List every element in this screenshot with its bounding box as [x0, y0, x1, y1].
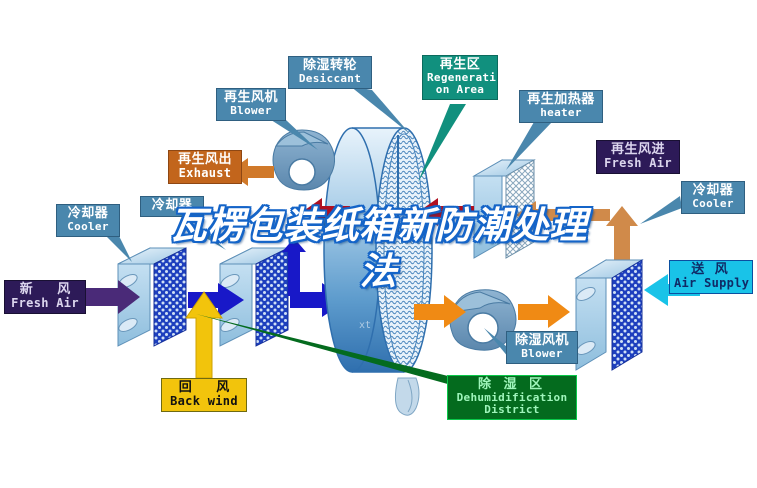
- label-cn: 再生风机: [221, 91, 281, 105]
- label-en: Blower: [221, 105, 281, 117]
- label-regeneration-blower[interactable]: 再生风机 Blower: [216, 88, 286, 121]
- label-cn: 除湿转轮: [293, 59, 367, 73]
- label-en: Desiccant: [293, 73, 367, 85]
- label-cn: 送 风: [674, 263, 748, 277]
- label-regeneration-area[interactable]: 再生区 Regenerati on Area: [422, 55, 498, 100]
- supply-cooler-unit: [575, 260, 642, 370]
- label-en: Cooler: [686, 198, 740, 210]
- label-cooler-right[interactable]: 冷却器 Cooler: [681, 181, 745, 214]
- label-regeneration-fresh-air-in[interactable]: 再生风进 Fresh Air: [596, 140, 680, 174]
- label-en: Fresh Air: [9, 297, 81, 310]
- label-en: Cooler: [61, 221, 115, 233]
- label-en-line2: on Area: [427, 84, 493, 96]
- label-en: Blower: [511, 348, 573, 360]
- label-en: Air Supply: [674, 277, 748, 290]
- label-cooler-left-b[interactable]: 冷却器: [140, 196, 204, 217]
- label-cn: 再生风出: [173, 153, 237, 167]
- label-cn: 除湿风机: [511, 334, 573, 348]
- label-dehumidification-district[interactable]: 除 湿 区 Dehumidification District: [447, 375, 577, 420]
- label-cooler-left-a[interactable]: 冷却器 Cooler: [56, 204, 120, 237]
- label-cn: 再生区: [427, 58, 493, 72]
- label-cn: 除 湿 区: [452, 378, 572, 392]
- label-dehumidification-blower[interactable]: 除湿风机 Blower: [506, 331, 578, 364]
- label-exhaust[interactable]: 再生风出 Exhaust: [168, 150, 242, 184]
- label-regeneration-heater[interactable]: 再生加热器 heater: [519, 90, 603, 123]
- label-en-line2: District: [452, 404, 572, 416]
- label-en: Back wind: [166, 395, 242, 408]
- label-air-supply[interactable]: 送 风 Air Supply: [669, 260, 753, 294]
- label-en: heater: [524, 107, 598, 119]
- label-cn: 再生风进: [601, 143, 675, 157]
- label-cn: 新 风: [9, 283, 81, 297]
- label-fresh-air-inlet[interactable]: 新 风 Fresh Air: [4, 280, 86, 314]
- label-cn: 冷却器: [145, 199, 199, 213]
- label-desiccant-rotor[interactable]: 除湿转轮 Desiccant: [288, 56, 372, 89]
- label-en: Exhaust: [173, 167, 237, 180]
- dehumidifier-schematic: [0, 0, 757, 488]
- label-cn: 再生加热器: [524, 93, 598, 107]
- label-cn: 回 风: [166, 381, 242, 395]
- label-en: Fresh Air: [601, 157, 675, 170]
- diagram-canvas: 除湿转轮 Desiccant 再生风机 Blower 再生区 Regenerat…: [0, 0, 757, 488]
- label-cn: 冷却器: [686, 184, 740, 198]
- label-back-wind[interactable]: 回 风 Back wind: [161, 378, 247, 412]
- label-cn: 冷却器: [61, 207, 115, 221]
